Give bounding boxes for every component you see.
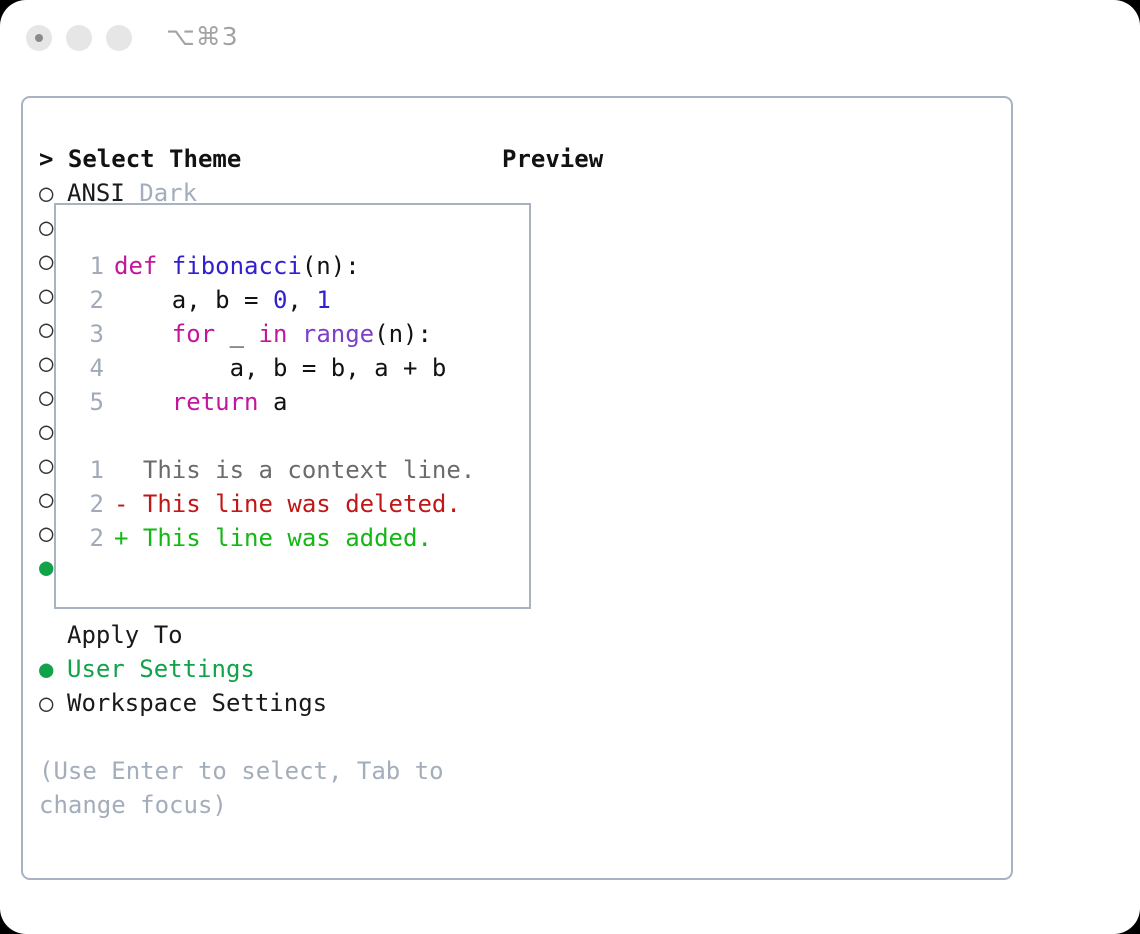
diff-text: This line was deleted. xyxy=(128,490,460,518)
code-line-number: 3 xyxy=(74,317,104,351)
code-line-number: 5 xyxy=(74,385,104,419)
diff-line-number: 2 xyxy=(74,487,104,521)
code-line-number: 1 xyxy=(74,249,104,283)
radio-selected-icon: ● xyxy=(39,652,67,686)
code-token-plain xyxy=(114,320,172,348)
diff-marker xyxy=(114,456,128,484)
code-token-kw: in xyxy=(259,320,288,348)
apply-to-option-workspace-settings[interactable]: ○Workspace Settings xyxy=(39,686,479,720)
code-line: 5 return a xyxy=(74,385,524,419)
code-token-plain: (n): xyxy=(302,252,360,280)
code-line-number: 4 xyxy=(74,351,104,385)
keyboard-hint-text: (Use Enter to select, Tab to change focu… xyxy=(39,754,449,822)
code-line-number: 2 xyxy=(74,283,104,317)
code-token-plain: , xyxy=(287,286,316,314)
code-line: 3 for _ in range(n): xyxy=(74,317,524,351)
preview-box: 1def fibonacci(n):2 a, b = 0, 13 for _ i… xyxy=(54,203,531,609)
apply-to-option-user-settings[interactable]: ●User Settings xyxy=(39,652,479,686)
code-token-num: 0 xyxy=(273,286,287,314)
diff-line-number: 2 xyxy=(74,521,104,555)
code-lines: 1def fibonacci(n):2 a, b = 0, 13 for _ i… xyxy=(74,249,524,419)
code-token-plain: (n): xyxy=(374,320,432,348)
close-window-button[interactable] xyxy=(26,25,52,51)
diff-line-del: 2- This line was deleted. xyxy=(74,487,524,521)
code-token-kw: for xyxy=(172,320,215,348)
apply-to-option-label: Workspace Settings xyxy=(67,689,327,717)
minimize-window-button[interactable] xyxy=(66,25,92,51)
preview-heading: Preview xyxy=(502,142,1002,176)
diff-marker: + xyxy=(114,524,128,552)
diff-line-ctx: 1 This is a context line. xyxy=(74,453,524,487)
code-token-plain: a xyxy=(259,388,288,416)
code-token-builtin: range xyxy=(302,320,374,348)
select-theme-heading: > Select Theme xyxy=(39,142,479,176)
diff-text: This line was added. xyxy=(128,524,431,552)
diff-lines: 1 This is a context line.2- This line wa… xyxy=(74,453,524,555)
radio-unselected-icon: ○ xyxy=(39,686,67,720)
code-token-plain xyxy=(287,320,301,348)
code-line: 4 a, b = b, a + b xyxy=(74,351,524,385)
apply-to-section: Apply To ●User Settings○Workspace Settin… xyxy=(39,618,479,720)
code-token-kw: def xyxy=(114,252,172,280)
code-token-kw: return xyxy=(172,388,259,416)
app-window: ⌥⌘3 > Select Theme ○ANSI Dark○Atom One D… xyxy=(0,0,1140,934)
apply-to-list: ●User Settings○Workspace Settings xyxy=(39,652,479,720)
apply-to-option-label: User Settings xyxy=(67,655,255,683)
code-sample: 1def fibonacci(n):2 a, b = 0, 13 for _ i… xyxy=(74,249,524,555)
diff-line-number: 1 xyxy=(74,453,104,487)
theme-picker-panel: > Select Theme ○ANSI Dark○Atom One Dark○… xyxy=(21,96,1013,880)
code-token-plain: a, b = b, a + b xyxy=(114,354,446,382)
code-line: 2 a, b = 0, 1 xyxy=(74,283,524,317)
code-token-plain: _ xyxy=(215,320,258,348)
apply-to-heading: Apply To xyxy=(39,618,479,652)
preview-column: Preview xyxy=(502,142,1002,176)
maximize-window-button[interactable] xyxy=(106,25,132,51)
window-title: ⌥⌘3 xyxy=(166,22,239,51)
diff-text: This is a context line. xyxy=(128,456,475,484)
code-token-plain xyxy=(114,388,172,416)
title-bar: ⌥⌘3 xyxy=(0,0,1140,76)
diff-marker: - xyxy=(114,490,128,518)
code-line: 1def fibonacci(n): xyxy=(74,249,524,283)
code-token-num: 1 xyxy=(316,286,330,314)
diff-line-add: 2+ This line was added. xyxy=(74,521,524,555)
code-token-fn: fibonacci xyxy=(172,252,302,280)
code-token-plain: a, b = xyxy=(114,286,273,314)
